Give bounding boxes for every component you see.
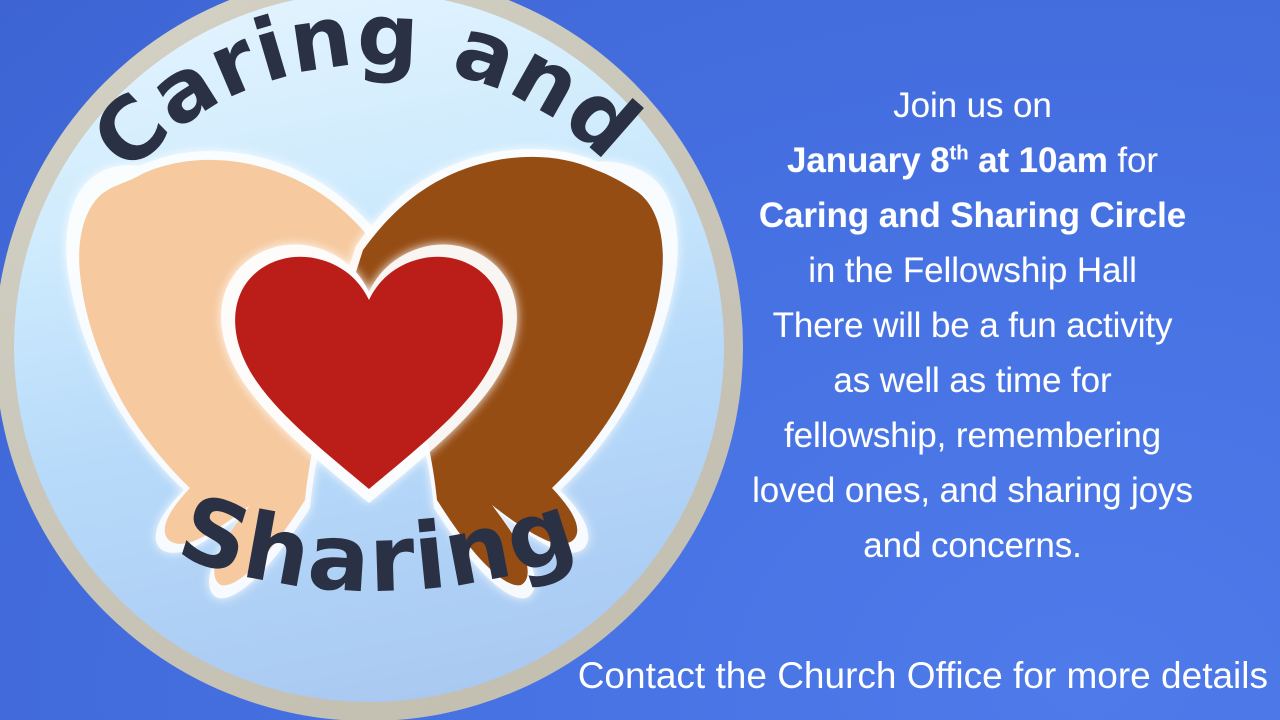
date-ordinal-suffix: th bbox=[950, 142, 969, 164]
message-line-event-name: Caring and Sharing Circle bbox=[700, 188, 1245, 243]
message-line-time-for: as well as time for bbox=[700, 353, 1245, 408]
event-message: Join us on January 8th at 10am for Carin… bbox=[700, 78, 1245, 573]
message-line-date-time: January 8th at 10am for bbox=[700, 133, 1245, 188]
date-text: January 8 bbox=[787, 141, 950, 180]
caring-and-sharing-logo: Caring and Sharing bbox=[0, 0, 746, 720]
date-line-suffix: for bbox=[1108, 141, 1158, 180]
message-line-loved-ones: loved ones, and sharing joys bbox=[700, 463, 1245, 518]
message-line-join-us: Join us on bbox=[700, 78, 1245, 133]
message-line-fellowship: fellowship, remembering bbox=[700, 408, 1245, 463]
message-line-location: in the Fellowship Hall bbox=[700, 243, 1245, 298]
contact-line: Contact the Church Office for more detai… bbox=[0, 652, 1274, 700]
slide-canvas: Caring and Sharing Join us on January 8t… bbox=[0, 0, 1280, 720]
message-line-activity: There will be a fun activity bbox=[700, 298, 1245, 353]
time-text: at 10am bbox=[969, 141, 1108, 180]
message-line-concerns: and concerns. bbox=[700, 518, 1245, 573]
